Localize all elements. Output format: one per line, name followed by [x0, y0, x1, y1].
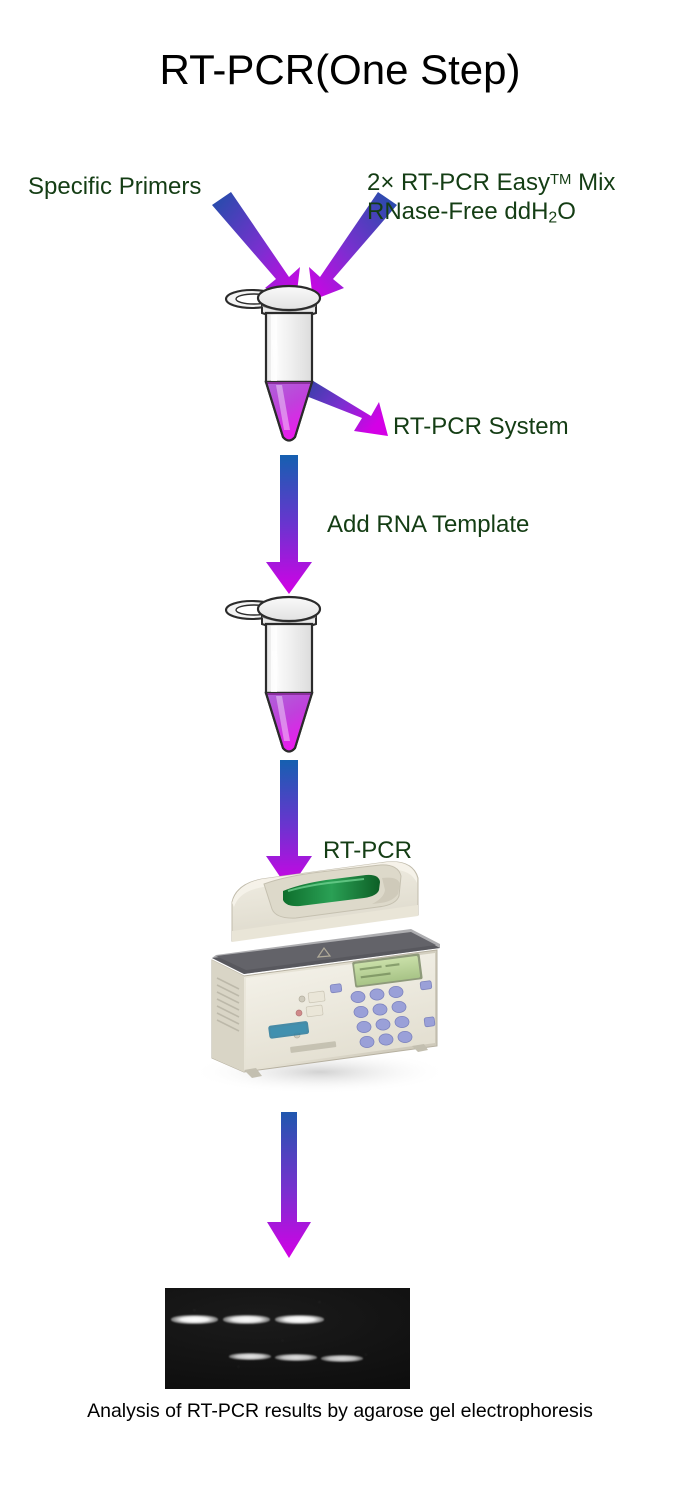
trademark-symbol: TM	[550, 172, 571, 188]
agarose-gel-image	[165, 1288, 410, 1389]
subscript-two: 2	[548, 210, 557, 227]
label-mix-line1-pre: 2× RT-PCR Easy	[367, 169, 550, 196]
label-reagent-mix: 2× RT-PCR EasyTM Mix RNase-Free ddH2O	[367, 168, 615, 228]
gel-band	[275, 1354, 317, 1361]
gel-band	[223, 1315, 270, 1324]
label-mix-line1-post: Mix	[571, 169, 615, 196]
microcentrifuge-tube-icon	[226, 597, 320, 752]
label-mix-line2-post: O	[557, 198, 576, 225]
pcr-thermocycler-icon	[190, 862, 450, 1094]
arrow-tube-to-system-label	[301, 379, 388, 436]
label-mix-line2: RNase-Free ddH2O	[367, 197, 615, 228]
gel-caption: Analysis of RT-PCR results by agarose ge…	[0, 1400, 680, 1423]
arrow-primers-to-tube	[212, 192, 300, 300]
label-add-rna-template: Add RNA Template	[327, 510, 529, 539]
gel-noise	[165, 1288, 410, 1389]
label-mix-line2-pre: RNase-Free ddH	[367, 198, 548, 225]
label-specific-primers: Specific Primers	[28, 172, 201, 201]
gel-band	[171, 1315, 218, 1324]
gel-band	[275, 1315, 324, 1324]
diagram-canvas: RT-PCR(One Step)	[0, 0, 680, 1492]
label-rtpcr-system: RT-PCR System	[393, 412, 569, 441]
gel-band	[229, 1353, 271, 1360]
label-rtpcr: RT-PCR	[323, 836, 412, 865]
arrow-rtpcr-to-machine	[266, 760, 312, 890]
label-mix-line1: 2× RT-PCR EasyTM Mix	[367, 168, 615, 197]
microcentrifuge-tube-icon	[226, 286, 320, 441]
arrow-machine-to-gel	[267, 1112, 311, 1258]
arrow-add-rna-template	[266, 455, 312, 594]
gel-band	[321, 1355, 363, 1362]
